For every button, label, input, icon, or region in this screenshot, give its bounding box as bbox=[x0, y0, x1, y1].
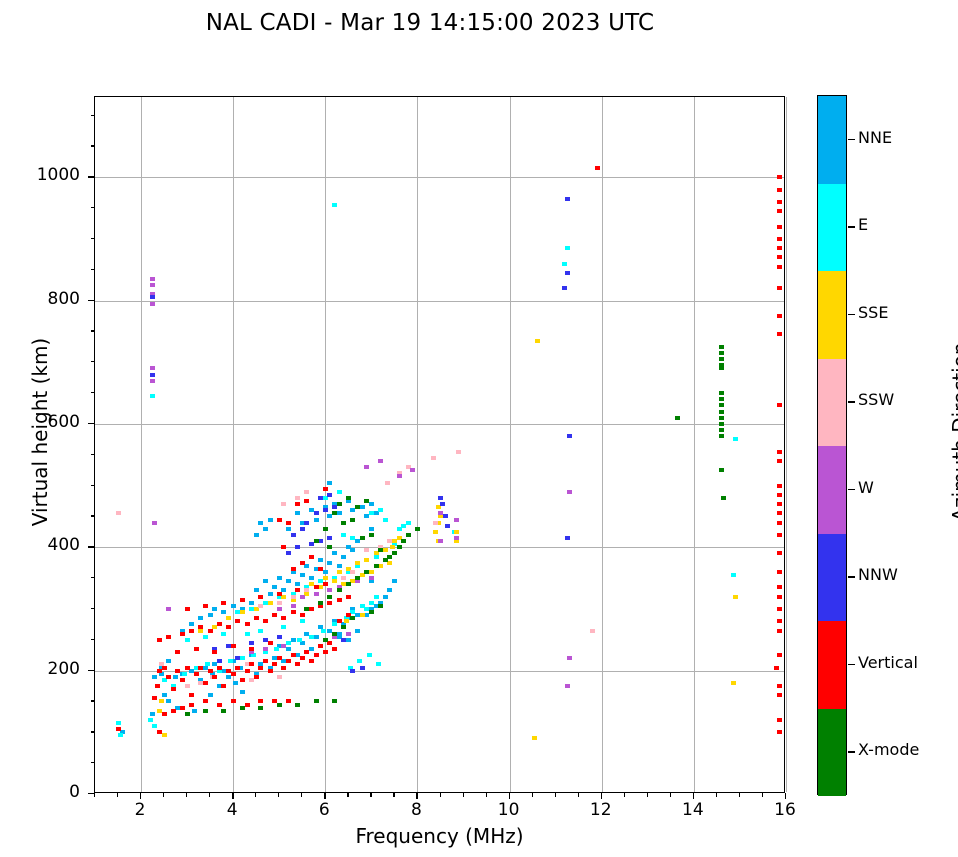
scatter-point bbox=[198, 616, 203, 620]
y-minor-tick bbox=[91, 762, 95, 763]
scatter-point bbox=[346, 632, 351, 636]
y-minor-tick bbox=[91, 330, 95, 331]
colorbar[interactable] bbox=[817, 95, 847, 795]
scatter-point bbox=[277, 601, 282, 605]
x-tick-label: 4 bbox=[202, 800, 262, 820]
scatter-point bbox=[355, 576, 360, 580]
x-minor-tick bbox=[163, 793, 164, 797]
x-minor-tick bbox=[647, 793, 648, 797]
scatter-point bbox=[327, 545, 332, 549]
scatter-point bbox=[562, 286, 567, 290]
scatter-point bbox=[258, 521, 263, 525]
y-tick bbox=[88, 546, 94, 547]
scatter-point bbox=[337, 511, 342, 515]
scatter-point bbox=[166, 635, 171, 639]
scatter-point bbox=[281, 595, 286, 599]
scatter-point bbox=[166, 659, 171, 663]
scatter-point bbox=[268, 518, 273, 522]
colorbar-label-ssw: SSW bbox=[858, 390, 894, 409]
y-tick-label: 1000 bbox=[0, 165, 80, 185]
scatter-point bbox=[249, 647, 254, 651]
scatter-point bbox=[397, 474, 402, 478]
scatter-point bbox=[198, 666, 203, 670]
scatter-point bbox=[281, 545, 286, 549]
scatter-point bbox=[277, 635, 282, 639]
scatter-point bbox=[777, 225, 782, 229]
scatter-point bbox=[733, 595, 738, 599]
scatter-point bbox=[433, 521, 438, 525]
x-tick-label: 10 bbox=[479, 800, 539, 820]
scatter-point bbox=[777, 332, 782, 336]
scatter-point bbox=[208, 629, 213, 633]
scatter-point bbox=[719, 351, 724, 355]
x-axis-title: Frequency (MHz) bbox=[94, 824, 785, 848]
scatter-point bbox=[438, 496, 443, 500]
scatter-point bbox=[440, 502, 445, 506]
x-minor-tick bbox=[255, 793, 256, 797]
scatter-point bbox=[318, 601, 323, 605]
scatter-point bbox=[535, 339, 540, 343]
scatter-point bbox=[364, 465, 369, 469]
scatter-point bbox=[719, 434, 724, 438]
colorbar-segment-ssw[interactable] bbox=[818, 359, 846, 447]
scatter-point bbox=[291, 567, 296, 571]
scatter-point bbox=[217, 703, 222, 707]
scatter-point bbox=[321, 629, 326, 633]
scatter-point bbox=[157, 638, 162, 642]
scatter-point bbox=[323, 487, 328, 491]
x-tick bbox=[232, 793, 233, 799]
x-tick bbox=[416, 793, 417, 799]
scatter-point bbox=[719, 416, 724, 420]
scatter-point bbox=[777, 493, 782, 497]
scatter-point bbox=[369, 527, 374, 531]
scatter-point bbox=[327, 493, 332, 497]
scatter-point bbox=[341, 521, 346, 525]
scatter-point bbox=[567, 656, 572, 660]
scatter-point bbox=[277, 592, 282, 596]
colorbar-segment-e[interactable] bbox=[818, 184, 846, 272]
scatter-point bbox=[221, 709, 226, 713]
x-minor-tick bbox=[463, 793, 464, 797]
scatter-point bbox=[314, 653, 319, 657]
scatter-point bbox=[233, 681, 238, 685]
scatter-point bbox=[332, 203, 337, 207]
scatter-point bbox=[286, 521, 291, 525]
scatter-point bbox=[387, 588, 392, 592]
scatter-point bbox=[249, 641, 254, 645]
scatter-point bbox=[777, 693, 782, 697]
scatter-point bbox=[281, 588, 286, 592]
scatter-point bbox=[217, 622, 222, 626]
scatter-point bbox=[231, 699, 236, 703]
scatter-point bbox=[719, 410, 724, 414]
scatter-point bbox=[719, 468, 724, 472]
scatter-point bbox=[217, 659, 222, 663]
scatter-point bbox=[777, 188, 782, 192]
scatter-point bbox=[332, 647, 337, 651]
x-minor-tick bbox=[670, 793, 671, 797]
scatter-point bbox=[332, 632, 337, 636]
scatter-point bbox=[189, 703, 194, 707]
scatter-point bbox=[212, 675, 217, 679]
scatter-point bbox=[721, 496, 726, 500]
scatter-point bbox=[565, 197, 570, 201]
scatter-point bbox=[263, 527, 268, 531]
y-minor-tick bbox=[91, 608, 95, 609]
scatter-point bbox=[777, 551, 782, 555]
y-minor-tick bbox=[91, 392, 95, 393]
scatter-point bbox=[777, 265, 782, 269]
y-tick-label: 200 bbox=[0, 659, 80, 679]
scatter-point bbox=[208, 693, 213, 697]
scatter-point bbox=[350, 518, 355, 522]
scatter-point bbox=[323, 638, 328, 642]
scatter-point bbox=[245, 632, 250, 636]
scatter-point bbox=[387, 561, 392, 565]
scatter-point bbox=[438, 539, 443, 543]
scatter-point bbox=[274, 647, 279, 651]
y-minor-tick bbox=[91, 361, 95, 362]
scatter-point bbox=[203, 604, 208, 608]
scatter-point bbox=[150, 712, 155, 716]
scatter-point bbox=[157, 730, 162, 734]
scatter-point bbox=[309, 647, 314, 651]
scatter-point bbox=[719, 422, 724, 426]
scatter-point bbox=[323, 582, 328, 586]
scatter-point bbox=[309, 607, 314, 611]
scatter-point bbox=[777, 730, 782, 734]
scatter-point bbox=[304, 490, 309, 494]
scatter-point bbox=[148, 718, 153, 722]
scatter-point bbox=[263, 619, 268, 623]
scatter-point bbox=[150, 277, 155, 281]
x-tick bbox=[509, 793, 510, 799]
scatter-point bbox=[185, 607, 190, 611]
scatter-point bbox=[327, 536, 332, 540]
scatter-point bbox=[291, 595, 296, 599]
scatter-point bbox=[350, 610, 355, 614]
y-minor-tick bbox=[91, 700, 95, 701]
scatter-point bbox=[309, 635, 314, 639]
scatter-point bbox=[221, 632, 226, 636]
scatter-point bbox=[346, 582, 351, 586]
scatter-point bbox=[360, 536, 365, 540]
y-minor-tick bbox=[91, 577, 95, 578]
scatter-point bbox=[291, 533, 296, 537]
colorbar-tick bbox=[848, 226, 855, 227]
y-tick bbox=[88, 793, 94, 794]
x-tick bbox=[693, 793, 694, 799]
scatter-point bbox=[171, 687, 176, 691]
scatter-point bbox=[378, 604, 383, 608]
colorbar-segment-w[interactable] bbox=[818, 446, 846, 534]
scatter-point bbox=[314, 699, 319, 703]
scatter-point bbox=[567, 434, 572, 438]
scatter-point bbox=[268, 669, 273, 673]
y-tick bbox=[88, 423, 94, 424]
scatter-point bbox=[344, 619, 349, 623]
scatter-point bbox=[341, 555, 346, 559]
scatter-point bbox=[254, 675, 259, 679]
scatter-point bbox=[208, 613, 213, 617]
scatter-point bbox=[245, 669, 250, 673]
scatter-point bbox=[162, 712, 167, 716]
colorbar-label-e: E bbox=[858, 215, 868, 234]
scatter-point bbox=[323, 650, 328, 654]
scatter-point bbox=[295, 588, 300, 592]
scatter-point bbox=[240, 678, 245, 682]
colorbar-label-nnw: NNW bbox=[858, 565, 898, 584]
scatter-point bbox=[383, 595, 388, 599]
y-minor-tick bbox=[91, 115, 95, 116]
scatter-point bbox=[116, 727, 121, 731]
scatter-point bbox=[323, 527, 328, 531]
scatter-point bbox=[198, 625, 203, 629]
scatter-point bbox=[116, 721, 121, 725]
scatter-point bbox=[231, 672, 236, 676]
scatter-point bbox=[281, 502, 286, 506]
scatter-point bbox=[185, 666, 190, 670]
scatter-point bbox=[360, 613, 365, 617]
scatter-point bbox=[166, 607, 171, 611]
scatter-point bbox=[272, 662, 277, 666]
scatter-point bbox=[272, 585, 277, 589]
scatter-point bbox=[194, 672, 199, 676]
scatter-point bbox=[155, 684, 160, 688]
scatter-point bbox=[182, 672, 187, 676]
scatter-point bbox=[350, 548, 355, 552]
scatter-point bbox=[323, 508, 328, 512]
scatter-point bbox=[369, 502, 374, 506]
x-minor-tick bbox=[716, 793, 717, 797]
y-tick bbox=[88, 300, 94, 301]
scatter-point bbox=[719, 403, 724, 407]
scatter-point bbox=[245, 703, 250, 707]
scatter-point bbox=[150, 302, 155, 306]
scatter-point bbox=[235, 619, 240, 623]
colorbar-segment-x-mode[interactable] bbox=[818, 709, 846, 797]
y-minor-tick bbox=[91, 454, 95, 455]
scatter-point bbox=[304, 650, 309, 654]
scatter-point bbox=[304, 588, 309, 592]
colorbar-segment-sse[interactable] bbox=[818, 271, 846, 359]
scatter-point bbox=[777, 511, 782, 515]
scatter-point bbox=[221, 601, 226, 605]
scatter-point bbox=[304, 499, 309, 503]
x-minor-tick bbox=[94, 793, 95, 797]
scatter-point bbox=[189, 693, 194, 697]
scatter-point bbox=[369, 511, 374, 515]
scatter-point bbox=[281, 616, 286, 620]
scatter-point bbox=[309, 659, 314, 663]
scatter-point bbox=[323, 570, 328, 574]
scatter-point bbox=[454, 530, 459, 534]
scatter-point bbox=[456, 450, 461, 454]
x-minor-tick bbox=[301, 793, 302, 797]
scatter-point bbox=[364, 558, 369, 562]
scatter-point bbox=[360, 666, 365, 670]
scatter-point bbox=[777, 718, 782, 722]
scatter-point bbox=[286, 647, 291, 651]
scatter-point bbox=[364, 570, 369, 574]
x-minor-tick bbox=[186, 793, 187, 797]
colorbar-label-x-mode: X-mode bbox=[858, 740, 919, 759]
scatter-point bbox=[291, 604, 296, 608]
scatter-point bbox=[318, 539, 323, 543]
scatter-point bbox=[118, 733, 123, 737]
scatter-point bbox=[258, 595, 263, 599]
scatter-point bbox=[175, 669, 180, 673]
colorbar-segment-vertical[interactable] bbox=[818, 621, 846, 709]
scatter-point bbox=[166, 675, 171, 679]
x-tick-label: 14 bbox=[663, 800, 723, 820]
scatter-point bbox=[777, 570, 782, 574]
scatter-point bbox=[205, 662, 210, 666]
scatter-point bbox=[777, 200, 782, 204]
scatter-point bbox=[532, 736, 537, 740]
x-minor-tick bbox=[370, 793, 371, 797]
colorbar-segment-nnw[interactable] bbox=[818, 534, 846, 622]
scatter-point bbox=[777, 255, 782, 259]
scatter-point bbox=[300, 619, 305, 623]
scatter-point bbox=[392, 579, 397, 583]
scatter-point bbox=[364, 548, 369, 552]
scatter-point bbox=[309, 576, 314, 580]
scatter-point bbox=[378, 548, 383, 552]
scatter-point bbox=[777, 521, 782, 525]
scatter-point bbox=[221, 610, 226, 614]
scatter-point bbox=[166, 699, 171, 703]
scatter-point bbox=[385, 481, 390, 485]
colorbar-tick bbox=[848, 314, 855, 315]
scatter-point bbox=[150, 394, 155, 398]
scatter-point bbox=[378, 459, 383, 463]
scatter-point bbox=[300, 561, 305, 565]
scatter-point bbox=[378, 564, 383, 568]
scatter-point bbox=[337, 490, 342, 494]
scatter-point bbox=[406, 533, 411, 537]
scatter-point bbox=[180, 706, 185, 710]
scatter-point bbox=[304, 564, 309, 568]
scatter-point bbox=[277, 703, 282, 707]
scatter-point bbox=[387, 555, 392, 559]
scatter-point bbox=[300, 573, 305, 577]
scatter-point bbox=[268, 592, 273, 596]
scatter-point bbox=[415, 527, 420, 531]
scatter-point bbox=[355, 629, 360, 633]
scatter-point bbox=[327, 601, 332, 605]
scatter-point bbox=[150, 295, 155, 299]
scatter-point bbox=[337, 570, 342, 574]
scatter-point bbox=[318, 558, 323, 562]
scatter-point bbox=[180, 678, 185, 682]
scatter-point bbox=[171, 709, 176, 713]
y-minor-tick bbox=[91, 731, 95, 732]
scatter-point bbox=[337, 564, 342, 568]
scatter-point bbox=[277, 607, 282, 611]
scatter-point bbox=[291, 653, 296, 657]
scatter-point bbox=[346, 638, 351, 642]
scatter-point bbox=[277, 656, 282, 660]
scatter-point bbox=[327, 561, 332, 565]
scatter-point bbox=[733, 437, 738, 441]
scatter-point bbox=[162, 666, 167, 670]
scatter-point bbox=[263, 659, 268, 663]
scatter-point bbox=[565, 536, 570, 540]
scatter-point bbox=[374, 564, 379, 568]
scatter-point bbox=[565, 271, 570, 275]
scatter-point bbox=[291, 610, 296, 614]
x-minor-tick bbox=[555, 793, 556, 797]
scatter-point bbox=[295, 582, 300, 586]
colorbar-title: Azimuth Direction bbox=[948, 262, 958, 602]
scatter-point bbox=[281, 644, 286, 648]
scatter-point bbox=[332, 579, 337, 583]
scatter-point bbox=[314, 635, 319, 639]
scatter-point bbox=[777, 403, 782, 407]
scatter-point bbox=[150, 373, 155, 377]
scatter-point bbox=[565, 246, 570, 250]
scatter-point bbox=[777, 237, 782, 241]
scatter-point bbox=[341, 533, 346, 537]
scatter-point bbox=[189, 622, 194, 626]
y-minor-tick bbox=[91, 238, 95, 239]
scatter-point bbox=[286, 527, 291, 531]
scatter-point bbox=[221, 684, 226, 688]
scatter-point bbox=[401, 539, 406, 543]
x-tick-label: 12 bbox=[571, 800, 631, 820]
scatter-point bbox=[258, 666, 263, 670]
scatter-point bbox=[152, 521, 157, 525]
scatter-point bbox=[369, 601, 374, 605]
scatter-point bbox=[159, 699, 164, 703]
scatter-point bbox=[387, 539, 392, 543]
colorbar-segment-nne[interactable] bbox=[818, 96, 846, 184]
scatter-point bbox=[369, 570, 374, 574]
scatter-point bbox=[203, 709, 208, 713]
scatter-point bbox=[217, 666, 222, 670]
scatter-point bbox=[777, 484, 782, 488]
scatter-point bbox=[281, 666, 286, 670]
scatter-point bbox=[777, 607, 782, 611]
scatter-point bbox=[286, 699, 291, 703]
scatter-point bbox=[235, 666, 240, 670]
scatter-point bbox=[374, 595, 379, 599]
colorbar-tick bbox=[848, 664, 855, 665]
scatter-point bbox=[295, 662, 300, 666]
scatter-point bbox=[567, 490, 572, 494]
x-tick-label: 8 bbox=[386, 800, 446, 820]
scatter-point bbox=[263, 579, 268, 583]
scatter-point bbox=[258, 604, 263, 608]
scatter-point bbox=[295, 545, 300, 549]
colorbar-label-sse: SSE bbox=[858, 303, 888, 322]
colorbar-label-nne: NNE bbox=[858, 128, 892, 147]
scatter-point bbox=[777, 585, 782, 589]
x-minor-tick bbox=[440, 793, 441, 797]
scatter-point bbox=[295, 496, 300, 500]
scatter-point bbox=[327, 641, 332, 645]
scatter-point bbox=[341, 638, 346, 642]
scatter-point bbox=[192, 709, 197, 713]
scatter-point bbox=[350, 570, 355, 574]
x-minor-tick bbox=[117, 793, 118, 797]
scatter-point bbox=[295, 511, 300, 515]
scatter-point bbox=[337, 588, 342, 592]
x-minor-tick bbox=[739, 793, 740, 797]
scatter-point bbox=[314, 511, 319, 515]
